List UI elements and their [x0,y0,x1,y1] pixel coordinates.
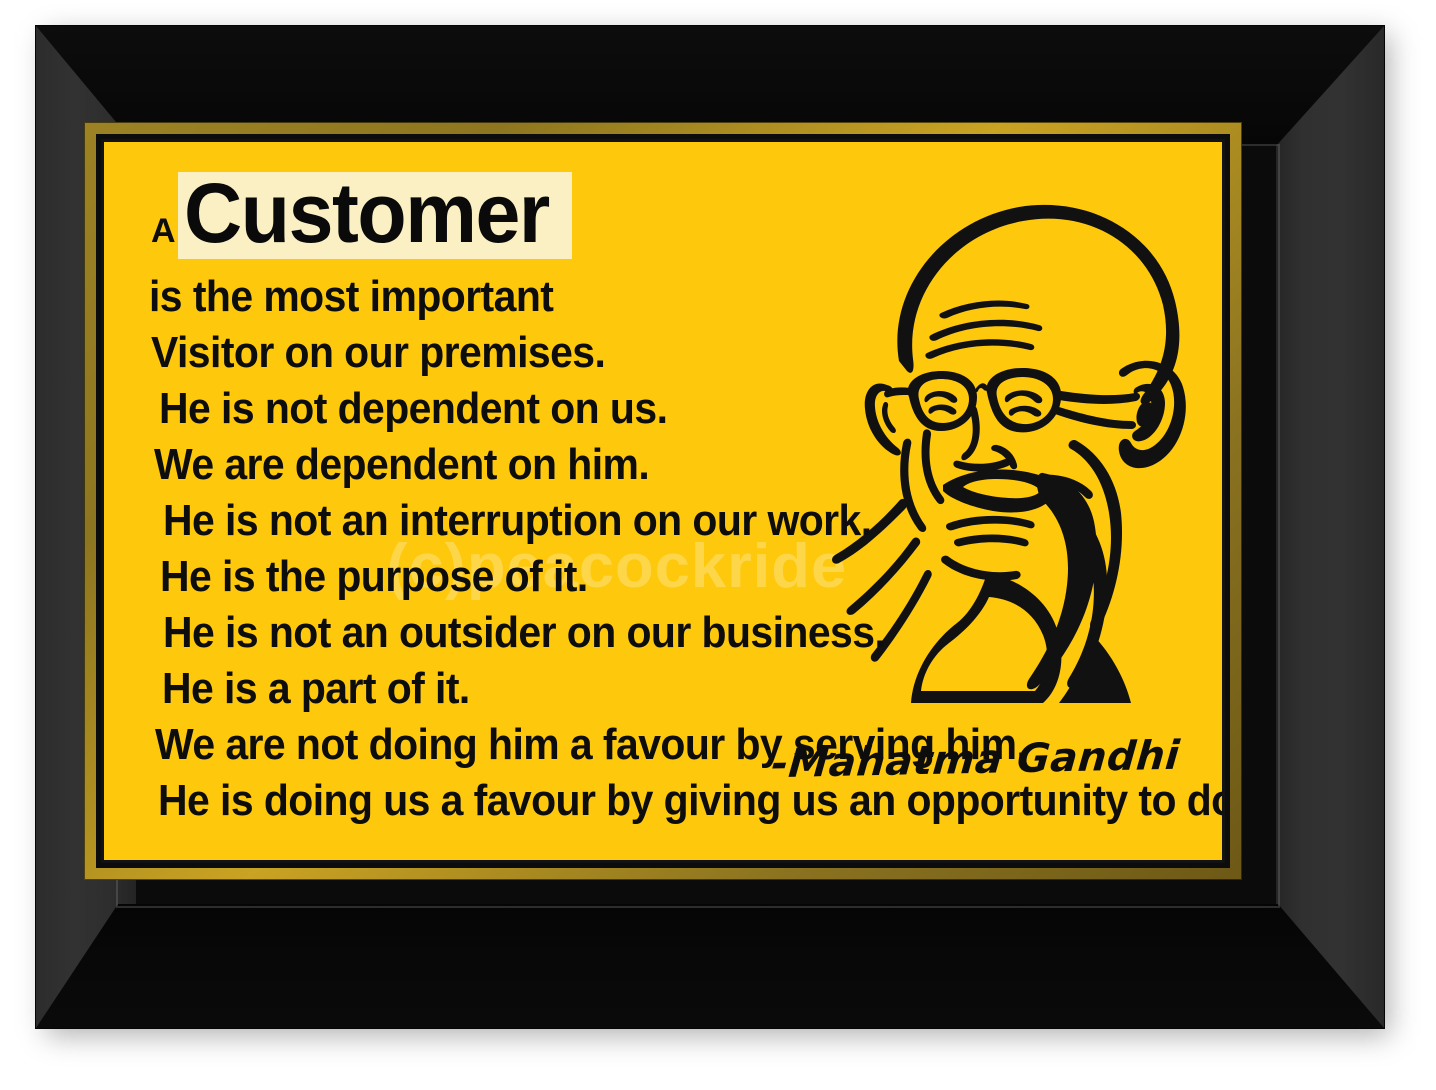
quote-line: Visitor on our premises. [151,325,1150,381]
quote-line: He is the purpose of it. [160,549,1150,605]
quote-line: He is not an outsider on our business. [163,605,1151,661]
poster-artwork: (c)peacockride A Customer is the most im… [101,139,1225,863]
quote-line: is the most important [149,269,1150,325]
frame-bevel-right [1276,26,1384,1028]
headline-article: A [151,214,175,250]
signature-attribution: -Mahatma Gandhi [769,733,1181,788]
quote-line: We are dependent on him. [154,437,1150,493]
frame-bevel-bottom [36,904,1384,1028]
quote-line: He is a part of it. [162,661,1151,717]
headline-word: Customer [184,175,549,252]
headline-highlight-box: Customer [178,172,572,259]
headline: A Customer [151,172,572,259]
quote-line: He is not an interruption on our work. [163,493,1151,549]
poster-scene: (c)peacockride A Customer is the most im… [0,0,1436,1090]
quote-line: He is not dependent on us. [159,381,1150,437]
